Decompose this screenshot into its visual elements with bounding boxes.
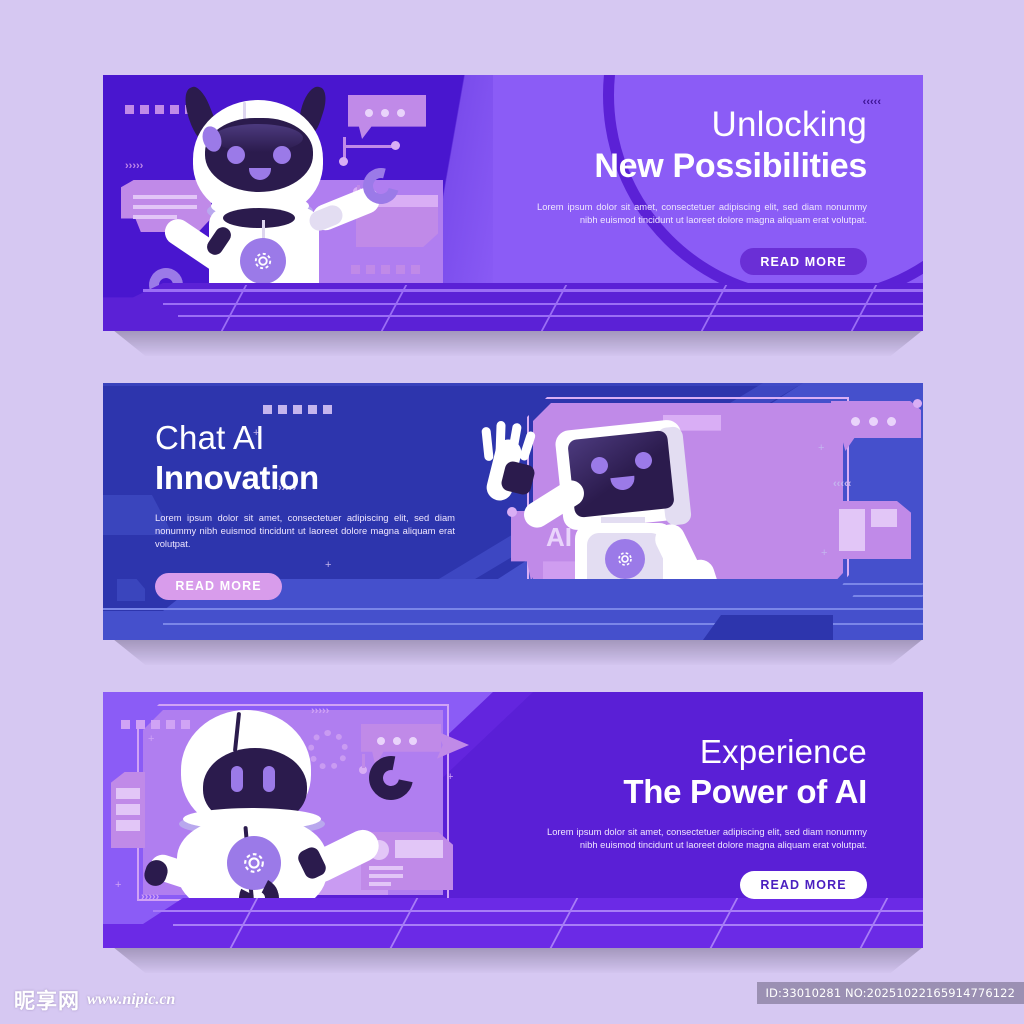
plus-decor-3: + — [115, 880, 121, 891]
robot-illustration — [143, 700, 463, 915]
robot-claw-right — [360, 747, 421, 808]
id-badge: ID:33010281 NO:20251022165914776122 — [757, 982, 1024, 1004]
banner-unlocking[interactable]: ‹‹‹‹‹ ››››› ››››› + + + + — [103, 75, 923, 331]
gear-icon — [240, 238, 286, 284]
banner-2-text-block: Chat AI Innovation Lorem ipsum dolor sit… — [155, 419, 485, 600]
banner-3-shadow — [113, 947, 923, 973]
banner-1-body: Lorem ipsum dolor sit amet, consectetuer… — [537, 200, 867, 226]
banner-3-body: Lorem ipsum dolor sit amet, consectetuer… — [547, 825, 867, 851]
banner-experience[interactable]: ››››› ››››› + + + — [103, 692, 923, 948]
banner-chat-ai[interactable]: ‹‹‹‹‹ ››››› + + + + AI — [103, 383, 923, 640]
banner-1-shadow — [113, 330, 923, 356]
banner-1-heading-light: Unlocking — [537, 105, 867, 145]
dots-decor — [263, 405, 332, 414]
banner-2-heading-bold: Innovation — [155, 458, 485, 497]
gear-icon — [605, 539, 645, 579]
banner-1-text-block: Unlocking New Possibilities Lorem ipsum … — [537, 105, 867, 275]
watermark: 昵享网 www.nipic.cn — [14, 985, 175, 1015]
watermark-logo: 昵享网 — [14, 985, 80, 1015]
read-more-button[interactable]: READ MORE — [740, 248, 867, 275]
page-root: ‹‹‹‹‹ ››››› ››››› + + + + — [0, 0, 1024, 1024]
watermark-url: www.nipic.cn — [87, 991, 175, 1009]
banner-3-text-block: Experience The Power of AI Lorem ipsum d… — [527, 732, 867, 899]
banner-3-heading-bold: The Power of AI — [527, 772, 867, 811]
banner-3-heading-light: Experience — [527, 732, 867, 771]
banner-2-body: Lorem ipsum dolor sit amet, consectetuer… — [155, 511, 455, 551]
banner-2-shadow — [113, 639, 923, 665]
read-more-button[interactable]: READ MORE — [155, 573, 282, 600]
banner-1-heading-bold: New Possibilities — [537, 146, 867, 186]
robot-illustration — [543, 405, 843, 605]
banner-2-heading-light: Chat AI — [155, 419, 485, 457]
read-more-button[interactable]: READ MORE — [740, 871, 867, 899]
